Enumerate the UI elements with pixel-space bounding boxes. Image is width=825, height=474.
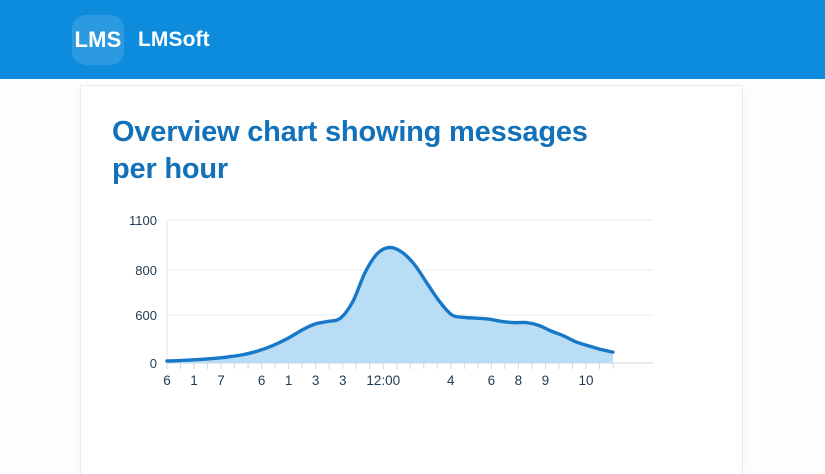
x-axis-tick-label: 6: [258, 373, 266, 386]
x-axis-tick-label: 6: [163, 373, 171, 386]
chart-container: 06008001100 617613312:00468910: [81, 206, 742, 386]
content-card: Overview chart showing messages per hour…: [81, 86, 742, 474]
x-axis-tick-label: 6: [488, 373, 496, 386]
x-axis-tick-label: 4: [447, 373, 455, 386]
y-axis-tick-label: 600: [135, 308, 157, 323]
messages-per-hour-chart: 06008001100 617613312:00468910: [81, 206, 742, 386]
page-title: Overview chart showing messages per hour: [112, 114, 632, 187]
logo-badge: LMS: [72, 15, 124, 65]
app-root: LMS LMSoft Overview chart showing messag…: [0, 0, 825, 474]
app-header: LMS LMSoft: [0, 0, 825, 79]
chart-y-axis-labels: 06008001100: [129, 213, 157, 371]
chart-x-ticks: [167, 363, 613, 369]
x-axis-tick-label: 3: [312, 373, 320, 386]
x-axis-tick-label: 1: [190, 373, 198, 386]
chart-x-axis-labels: 617613312:00468910: [163, 373, 593, 386]
x-axis-tick-label: 1: [285, 373, 293, 386]
chart-area-fill: [167, 247, 613, 363]
x-axis-tick-label: 9: [542, 373, 550, 386]
x-axis-tick-label: 12:00: [366, 373, 400, 386]
brand-name: LMSoft: [138, 28, 210, 52]
y-axis-tick-label: 800: [135, 263, 157, 278]
x-axis-tick-label: 7: [217, 373, 225, 386]
x-axis-tick-label: 10: [578, 373, 593, 386]
brand[interactable]: LMS LMSoft: [72, 15, 210, 65]
y-axis-tick-label: 1100: [129, 213, 157, 228]
logo-text: LMS: [74, 27, 121, 53]
x-axis-tick-label: 8: [515, 373, 523, 386]
x-axis-tick-label: 3: [339, 373, 347, 386]
y-axis-tick-label: 0: [150, 356, 157, 371]
